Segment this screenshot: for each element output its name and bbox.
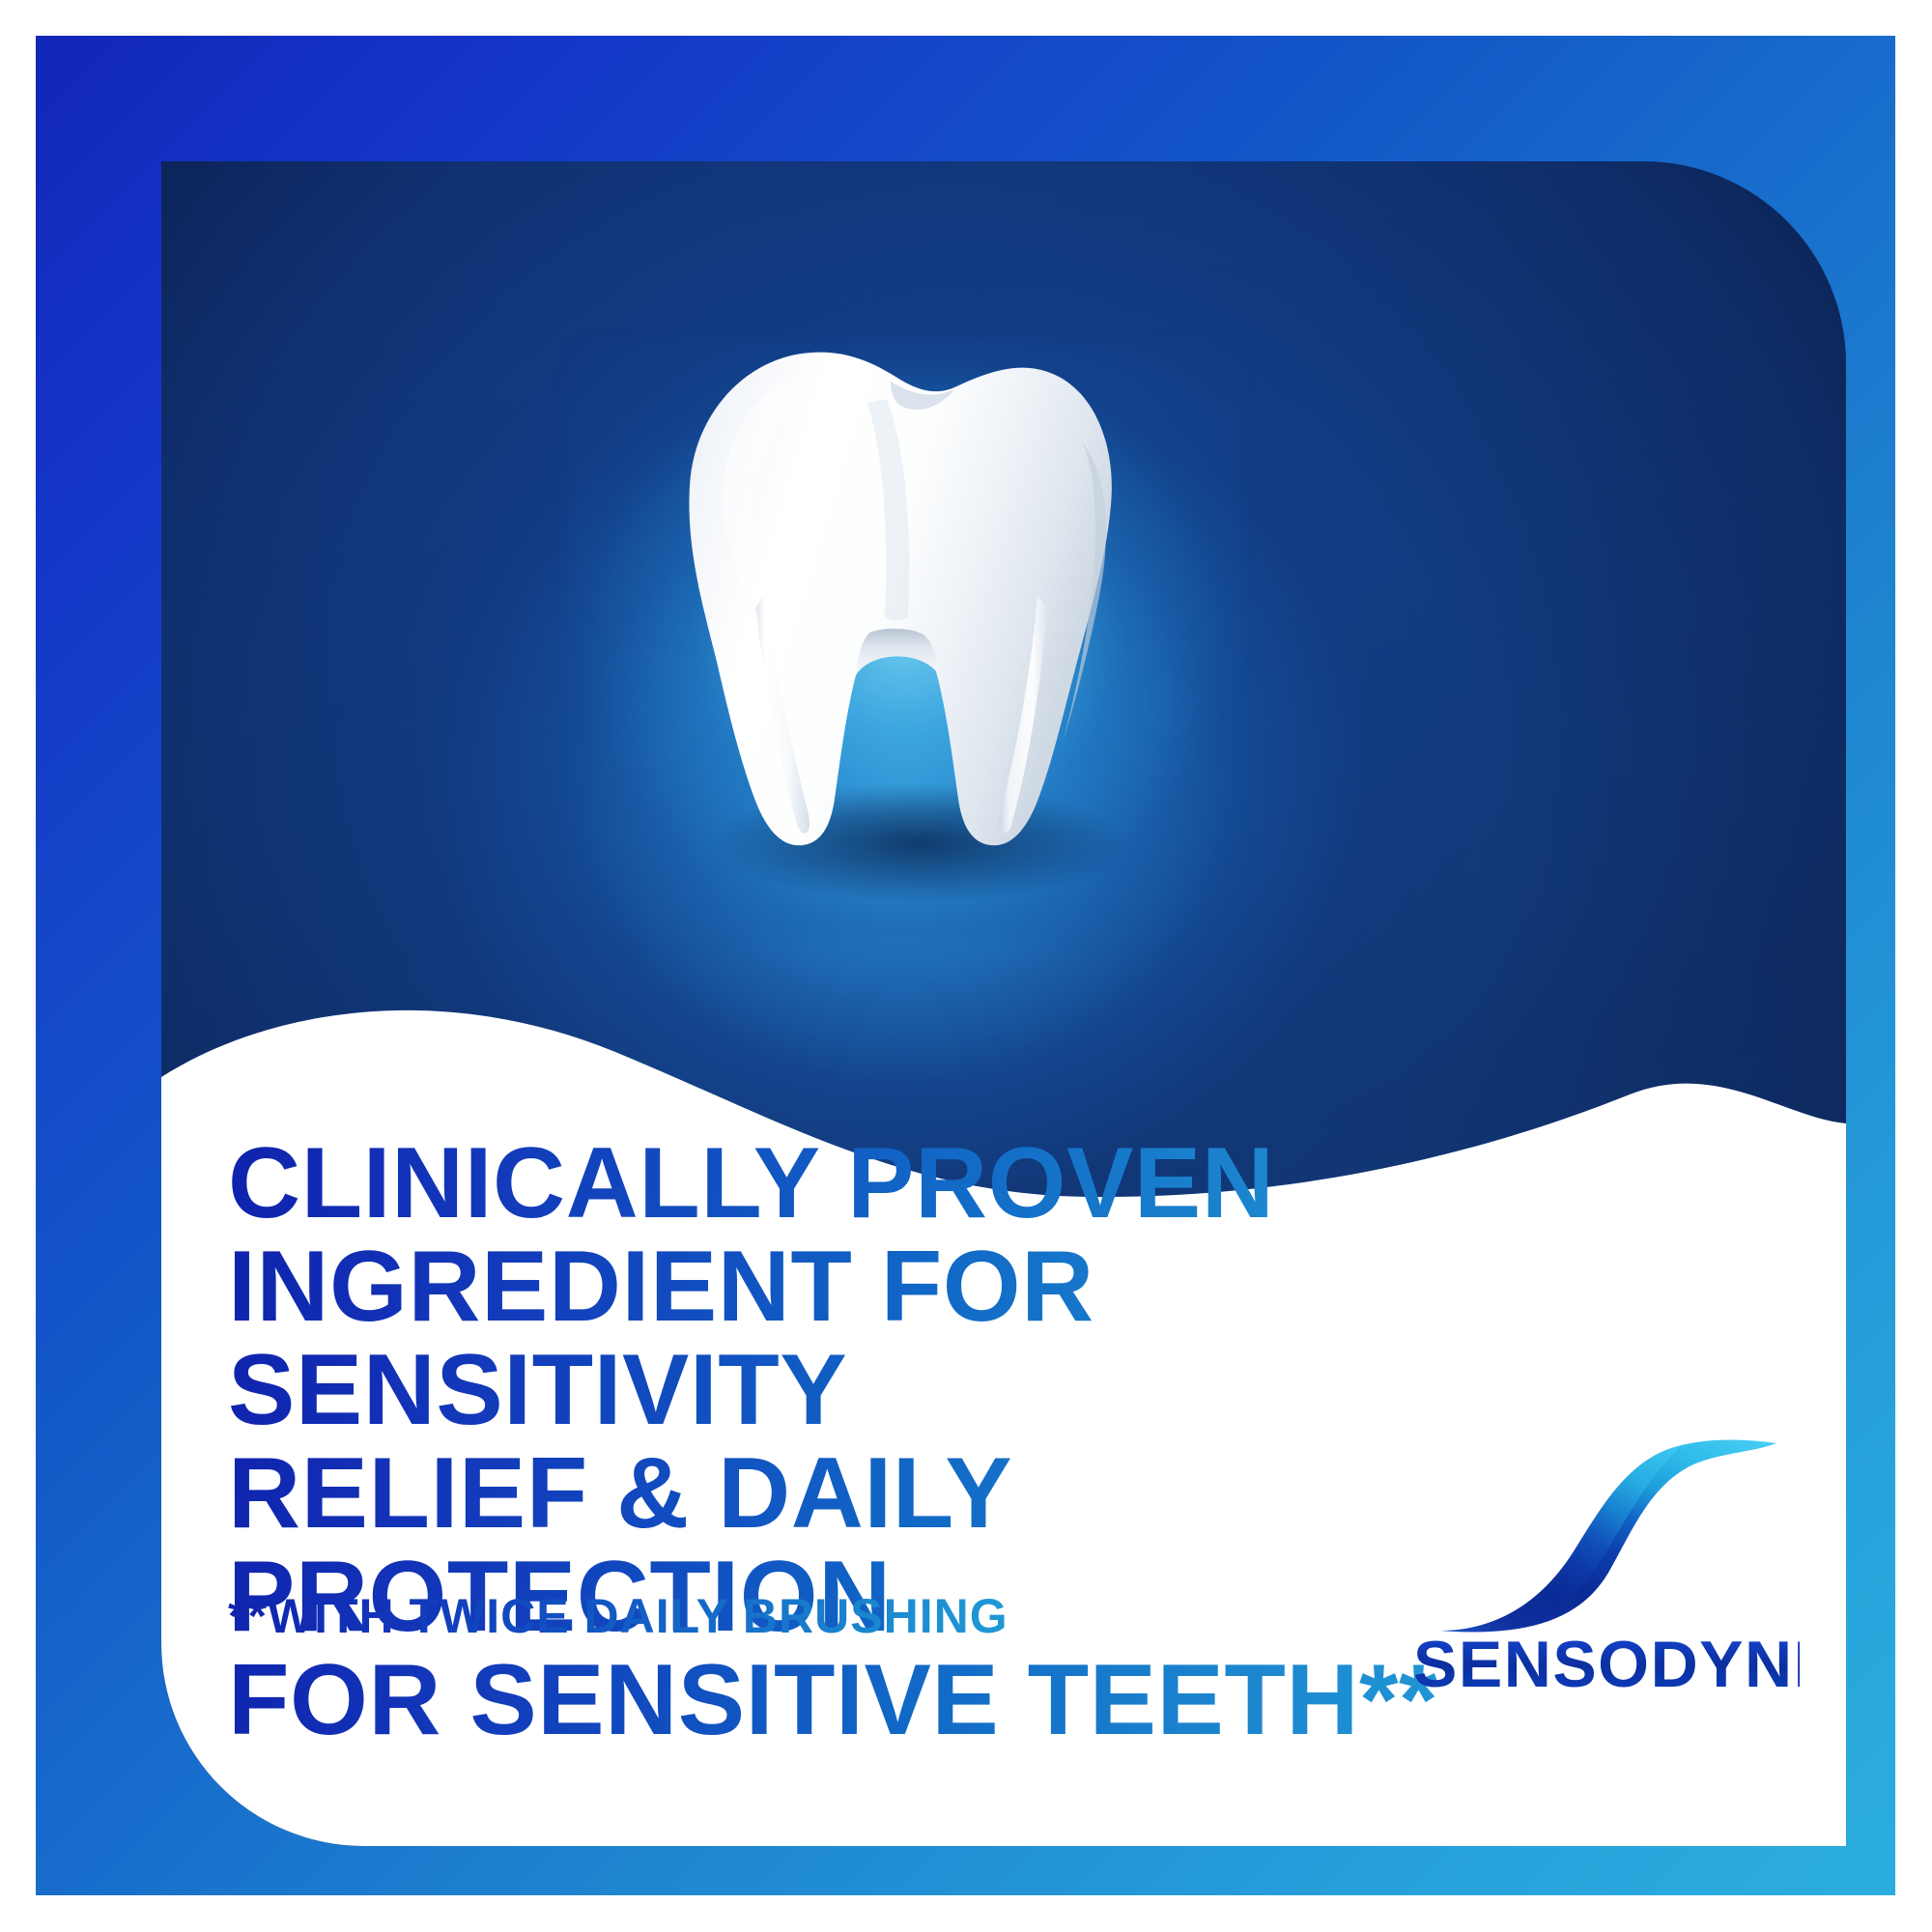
brand-logo: SENSODYNE bbox=[1413, 1432, 1800, 1731]
brand-wordmark: SENSODYNE bbox=[1413, 1627, 1800, 1702]
tooth-icon bbox=[601, 306, 1142, 905]
page-title: CLINICALLY PROVEN INGREDIENT FOR SENSITI… bbox=[228, 1132, 1600, 1752]
footnote-text: **WITH TWICE DAILY BRUSHING bbox=[228, 1589, 1009, 1643]
sensodyne-swoosh-icon bbox=[1433, 1432, 1780, 1639]
sensodyne-ad-canvas: CLINICALLY PROVEN INGREDIENT FOR SENSITI… bbox=[0, 0, 1932, 1932]
